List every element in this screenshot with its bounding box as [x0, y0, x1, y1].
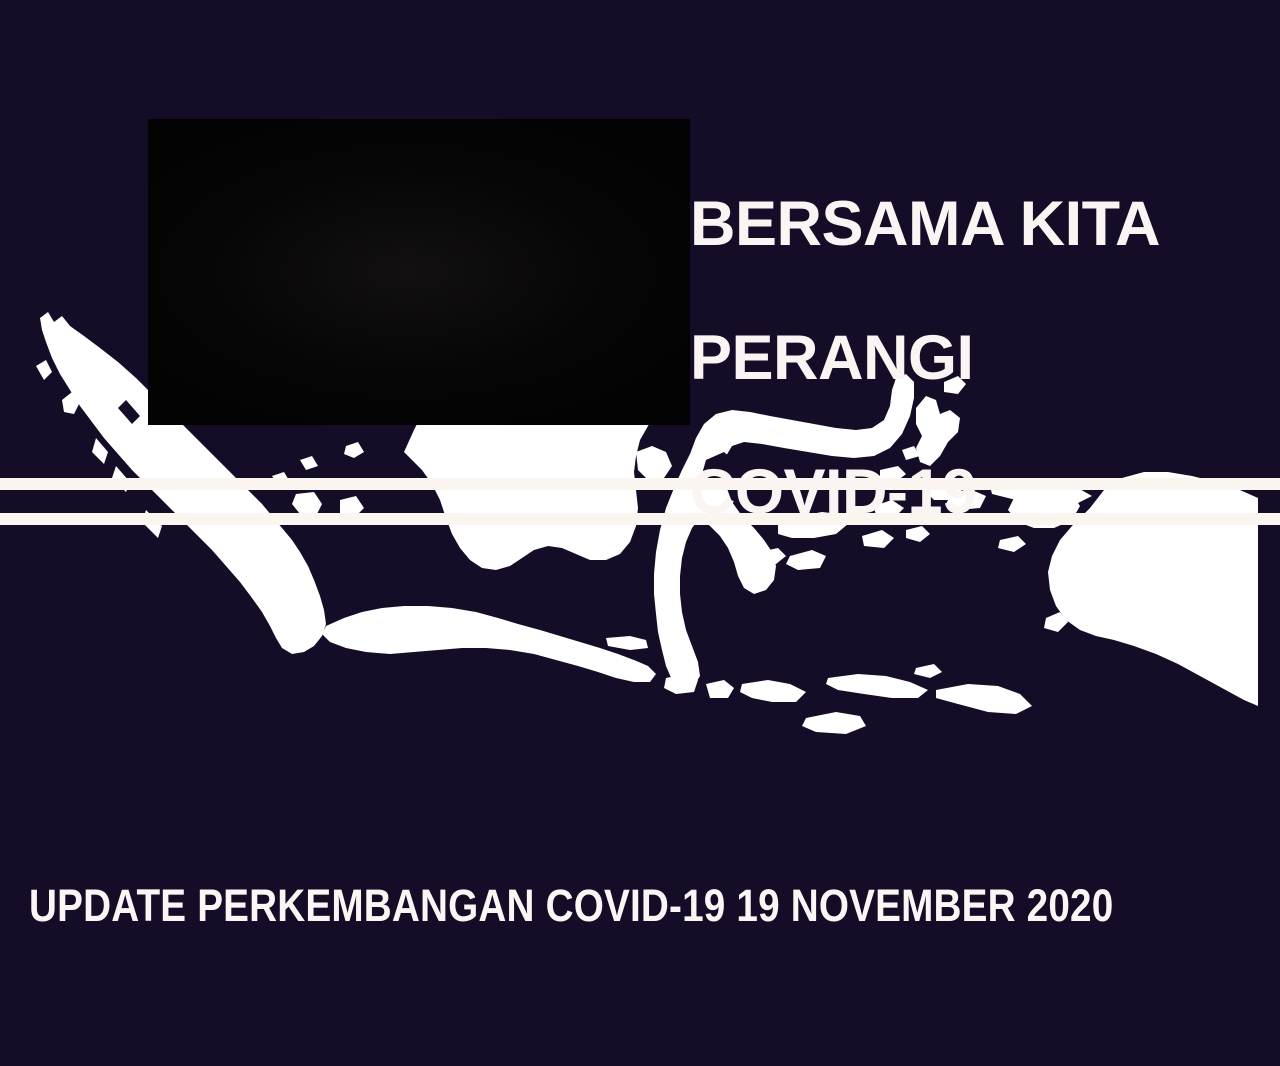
island-natuna [344, 442, 364, 458]
island-mentawai-1 [92, 438, 108, 464]
headline-line-1: BERSAMA KITA [690, 191, 1160, 258]
poster-canvas: BERSAMA KITA PERANGI COVID-19 UPDATE PER… [0, 0, 1280, 1066]
island-java [322, 606, 656, 682]
island-anambas [300, 456, 318, 470]
headline: BERSAMA KITA PERANGI COVID-19 [690, 124, 1160, 593]
headline-line-3: COVID-19 [690, 459, 1160, 526]
island-timor [936, 684, 1032, 714]
island-flores [826, 674, 928, 698]
island-madura [606, 636, 648, 650]
island-simeulue [36, 360, 52, 380]
island-alor [914, 664, 942, 678]
coronavirus-particles-photo [148, 119, 690, 425]
photo-background [148, 119, 690, 425]
island-lombok [706, 680, 734, 698]
update-caption: UPDATE PERKEMBANGAN COVID-19 19 NOVEMBER… [29, 880, 1087, 932]
headline-line-2: PERANGI [690, 325, 1160, 392]
island-sumbawa [740, 680, 806, 702]
island-sumba [802, 712, 866, 734]
kalimantan-east-arm [636, 446, 672, 480]
